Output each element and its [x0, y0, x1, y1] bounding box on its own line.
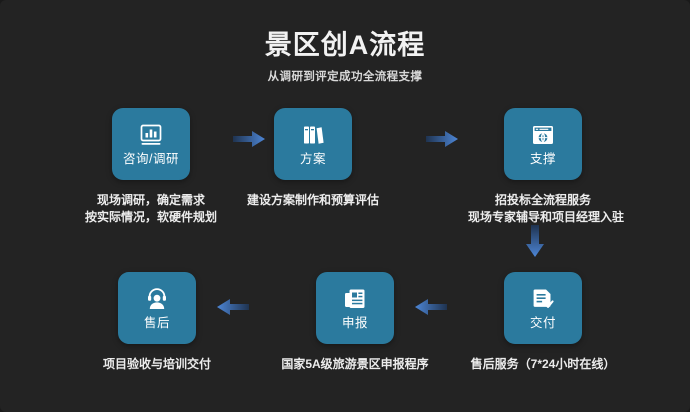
flow-step-delivery[interactable]: 交付 售后服务（7*24小时在线） [468, 272, 618, 373]
caption-line: 招投标全流程服务 [468, 192, 618, 209]
step-card[interactable]: 支撑 [504, 108, 582, 180]
step-card[interactable]: 申报 [316, 272, 394, 344]
step-caption: 国家5A级旅游景区申报程序 [280, 356, 430, 373]
arrow-right-icon [425, 128, 459, 150]
step-card[interactable]: 交付 [504, 272, 582, 344]
browser-globe-icon [530, 122, 556, 148]
step-label: 售后 [144, 317, 170, 330]
step-label: 交付 [530, 317, 556, 330]
flow-step-plan[interactable]: 方案 建设方案制作和预算评估 [238, 108, 388, 209]
page-title: 景区创A流程 [0, 30, 690, 61]
step-caption: 现场调研，确定需求 按实际情况，软硬件规划 [76, 192, 226, 227]
headset-support-icon [144, 286, 170, 312]
documents-stack-icon [342, 286, 368, 312]
books-icon [300, 122, 326, 148]
caption-line: 国家5A级旅游景区申报程序 [280, 356, 430, 373]
page-subtitle: 从调研到评定成功全流程支撑 [0, 68, 690, 84]
bar-chart-icon [138, 122, 164, 148]
step-label: 支撑 [530, 153, 556, 166]
flow-step-support[interactable]: 支撑 招投标全流程服务 现场专家辅导和项目经理入驻 [468, 108, 618, 227]
step-caption: 售后服务（7*24小时在线） [468, 356, 618, 373]
arrow-left-icon [414, 296, 448, 318]
diagram-header: 景区创A流程 从调研到评定成功全流程支撑 [0, 30, 690, 84]
caption-line: 售后服务（7*24小时在线） [468, 356, 618, 373]
arrow-down-icon [524, 224, 546, 258]
caption-line: 现场调研，确定需求 [76, 192, 226, 209]
caption-line: 项目验收与培训交付 [82, 356, 232, 373]
caption-line: 按实际情况，软硬件规划 [76, 209, 226, 226]
step-caption: 建设方案制作和预算评估 [238, 192, 388, 209]
document-check-icon [530, 286, 556, 312]
arrow-left-icon [216, 296, 250, 318]
step-label: 申报 [342, 317, 368, 330]
flow-step-aftersales[interactable]: 售后 项目验收与培训交付 [82, 272, 232, 373]
step-label: 咨询/调研 [123, 153, 179, 166]
step-caption: 项目验收与培训交付 [82, 356, 232, 373]
flow-step-application[interactable]: 申报 国家5A级旅游景区申报程序 [280, 272, 430, 373]
step-card[interactable]: 方案 [274, 108, 352, 180]
arrow-right-icon [232, 128, 266, 150]
step-card[interactable]: 售后 [118, 272, 196, 344]
step-label: 方案 [300, 153, 326, 166]
flow-diagram-canvas: 景区创A流程 从调研到评定成功全流程支撑 咨询/调研 现场调研，确定需求 按实际… [0, 0, 690, 412]
step-caption: 招投标全流程服务 现场专家辅导和项目经理入驻 [468, 192, 618, 227]
step-card[interactable]: 咨询/调研 [112, 108, 190, 180]
caption-line: 建设方案制作和预算评估 [238, 192, 388, 209]
flow-step-consultation[interactable]: 咨询/调研 现场调研，确定需求 按实际情况，软硬件规划 [76, 108, 226, 227]
